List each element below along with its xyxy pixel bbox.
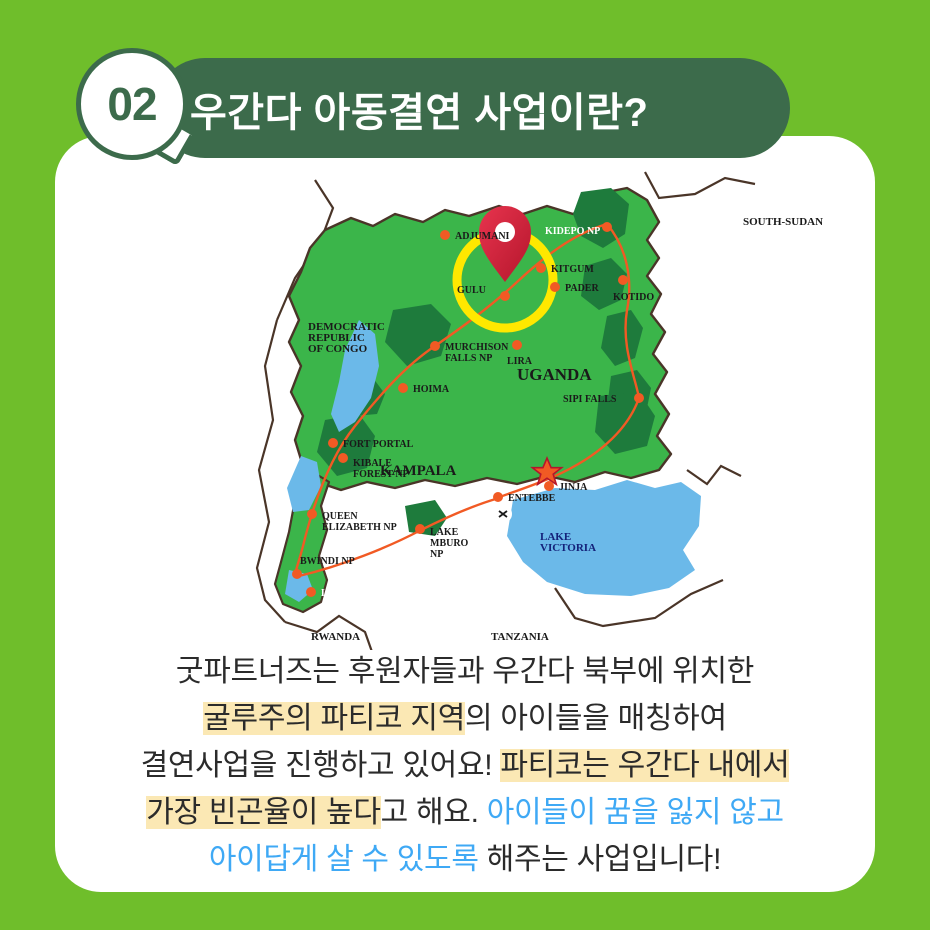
- badge-number: 02: [76, 48, 188, 160]
- airport-icon: [495, 506, 511, 522]
- map-city-label: BWINDI NP: [300, 556, 355, 567]
- map-country-label: SOUTH-SUDAN: [743, 216, 823, 228]
- map-country-label: TANZANIA: [491, 631, 549, 643]
- body-line: 아이답게 살 수 있도록 해주는 사업입니다!: [55, 836, 875, 883]
- body-line: 굿파트너즈는 후원자들과 우간다 북부에 위치한: [55, 648, 875, 695]
- map-city-label: KIDEPO NP: [545, 226, 600, 237]
- body-line: 결연사업을 진행하고 있어요! 파티코는 우간다 내에서: [55, 742, 875, 789]
- map-city-label: PADER: [565, 283, 599, 294]
- map-city-label: ENTEBBE: [508, 493, 556, 504]
- map-city-label: SIPI FALLS: [563, 394, 617, 405]
- map-svg: ADJUMANIKIDEPO NPKITGUMPADERKOTIDOGULUMU…: [55, 150, 875, 650]
- body-text-segment: 의 아이들을 매칭하여: [465, 702, 727, 735]
- page-title: 우간다 아동결연 사업이란?: [190, 64, 790, 154]
- map-city-label: ADJUMANI: [455, 231, 510, 242]
- map-city-label: JINJA: [559, 482, 588, 493]
- body-line: 가장 빈곤율이 높다고 해요. 아이들이 꿈을 잃지 않고: [55, 789, 875, 836]
- map-city-label: KOTIDO: [613, 292, 654, 303]
- body-copy: 굿파트너즈는 후원자들과 우간다 북부에 위치한굴루주의 파티코 지역의 아이들…: [55, 648, 875, 883]
- body-text-segment: 고 해요.: [381, 796, 487, 829]
- body-text-segment: 굴루주의 파티코 지역: [203, 702, 465, 735]
- map-city-label: GULU: [457, 285, 486, 296]
- map-country-label: RWANDA: [311, 631, 360, 643]
- map-city-label: KAMPALA: [380, 463, 457, 479]
- map-city-label: KITGUM: [551, 264, 594, 275]
- step-badge: 02: [76, 48, 200, 172]
- body-text-segment: 아이답게 살 수 있도록: [209, 843, 487, 876]
- map-country-name: UGANDA: [517, 365, 592, 384]
- map-city-label: FORT PORTAL: [343, 439, 414, 450]
- body-text-segment: 아이들이 꿈을 잃지 않고: [487, 796, 784, 829]
- body-text-segment: 가장 빈곤율이 높다: [146, 796, 380, 829]
- body-text-segment: 결연사업을 진행하고 있어요!: [141, 749, 501, 782]
- uganda-map: ADJUMANIKIDEPO NPKITGUMPADERKOTIDOGULUMU…: [55, 150, 875, 650]
- map-city-label: QUEENELIZABETH NP: [322, 511, 397, 533]
- body-text-segment: 굿파트너즈는 후원자들과 우간다 북부에 위치한: [176, 655, 754, 688]
- header: 우간다 아동결연 사업이란? 02: [0, 0, 930, 170]
- body-text-segment: 해주는 사업입니다!: [487, 843, 721, 876]
- body-text-segment: 파티코는 우간다 내에서: [500, 749, 789, 782]
- map-city-label: LAKE BONYONYI: [321, 588, 407, 599]
- map-city-label: LAKEMBURONP: [430, 527, 469, 560]
- body-line: 굴루주의 파티코 지역의 아이들을 매칭하여: [55, 695, 875, 742]
- map-city-label: HOIMA: [413, 384, 450, 395]
